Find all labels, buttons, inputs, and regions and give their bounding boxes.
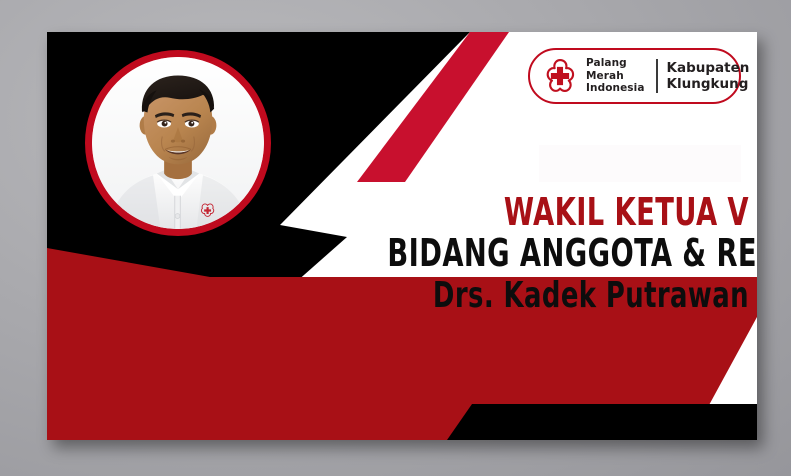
title-block: WAKIL KETUA V BIDANG ANGGOTA & RELAWAN D…: [297, 192, 749, 316]
badge-divider: [656, 59, 658, 93]
black-bottom-bar: [447, 404, 757, 440]
avatar: [85, 50, 271, 236]
role-title: WAKIL KETUA V: [387, 192, 749, 232]
person-name: Drs. Kadek Putrawan: [387, 276, 749, 316]
backdrop: Palang Merah Indonesia Kabupaten Klungku…: [0, 0, 791, 476]
pmi-organization-name: Palang Merah Indonesia: [586, 57, 645, 94]
pmi-red-cross-logo: [541, 57, 579, 95]
faint-placeholder-strip: [539, 145, 741, 182]
badge-region-name: Kabupaten Klungkung: [667, 60, 750, 93]
officer-profile-card: Palang Merah Indonesia Kabupaten Klungku…: [47, 32, 757, 440]
portrait-photo: [92, 57, 264, 229]
department-title: BIDANG ANGGOTA & RELAWAN: [387, 233, 749, 274]
pmi-klungkung-badge: Palang Merah Indonesia Kabupaten Klungku…: [528, 48, 741, 104]
